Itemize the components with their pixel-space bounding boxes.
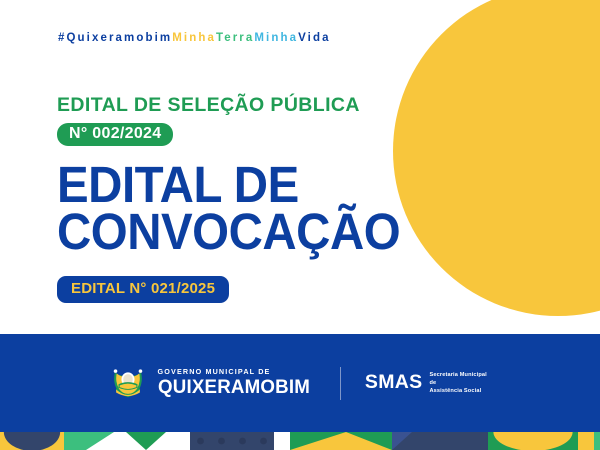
hashtag-slogan: #QuixeramobimMinhaTerraMinhaVida: [58, 33, 331, 45]
hashtag-segment-2: Terra: [216, 32, 254, 44]
strip-cell-green-square-2: [594, 432, 600, 450]
decorative-strip: [0, 432, 600, 450]
smas-full-name-line-2: Assistência Social: [429, 387, 491, 395]
strip-cell-green-yellow-corner: [290, 432, 346, 450]
strip-cell-white-gap-2: [166, 432, 190, 450]
strip-cell-white-gap-3: [274, 432, 290, 450]
smas-logo: SMAS Secretaria Municipal de Assistência…: [365, 371, 492, 395]
kicker-text: EDITAL DE SELEÇÃO PÚBLICA: [57, 96, 426, 116]
selection-number-badge: N° 002/2024: [57, 123, 173, 147]
headline-block: EDITAL DE SELEÇÃO PÚBLICA N° 002/2024 ED…: [57, 96, 426, 303]
municipality-name: QUIXERAMOBIM: [158, 378, 310, 398]
strip-cell-yellow-green-corner: [346, 432, 392, 450]
hashtag-segment-1: Minha: [172, 32, 216, 44]
strip-cell-yellow-arc-tail: [578, 432, 594, 450]
strip-cell-navy-dots: [190, 432, 274, 450]
hashtag-segment-0: #Quixeramobim: [58, 32, 172, 44]
smas-acronym: SMAS: [365, 371, 423, 394]
strip-cell-navy-tri-left: [392, 432, 412, 450]
logo-divider: [340, 367, 341, 400]
footer-band: GOVERNO MUNICIPAL DE QUIXERAMOBIM SMAS S…: [0, 334, 600, 432]
footer-logo-row: GOVERNO MUNICIPAL DE QUIXERAMOBIM SMAS S…: [109, 364, 492, 402]
coat-of-arms-icon: [109, 364, 147, 402]
strip-cell-white-gap: [114, 432, 126, 450]
smas-full-name-line-1: Secretaria Municipal de: [429, 371, 491, 387]
strip-cell-navy-block: [412, 432, 488, 450]
page-title-line-2: CONVOCAÇÃO: [57, 209, 400, 256]
strip-cell-yellow-semicircle: [0, 432, 64, 450]
government-wordmark: GOVERNO MUNICIPAL DE QUIXERAMOBIM: [158, 368, 316, 398]
notice-number-badge: EDITAL N° 021/2025: [57, 276, 229, 303]
strip-cell-green-square: [64, 432, 86, 450]
government-prefix: GOVERNO MUNICIPAL DE: [158, 368, 316, 375]
poster-canvas: #QuixeramobimMinhaTerraMinhaVida EDITAL …: [0, 0, 600, 450]
strip-cell-green-corner-tri: [86, 432, 114, 450]
page-title: EDITAL DE CONVOCAÇÃO: [57, 162, 400, 256]
hashtag-segment-3: Minha: [254, 32, 298, 44]
smas-full-name: Secretaria Municipal de Assistência Soci…: [429, 371, 491, 395]
strip-cell-green-yellow-arc: [488, 432, 578, 450]
strip-cell-green-down-tri: [126, 432, 166, 450]
hashtag-segment-4: Vida: [298, 32, 330, 44]
